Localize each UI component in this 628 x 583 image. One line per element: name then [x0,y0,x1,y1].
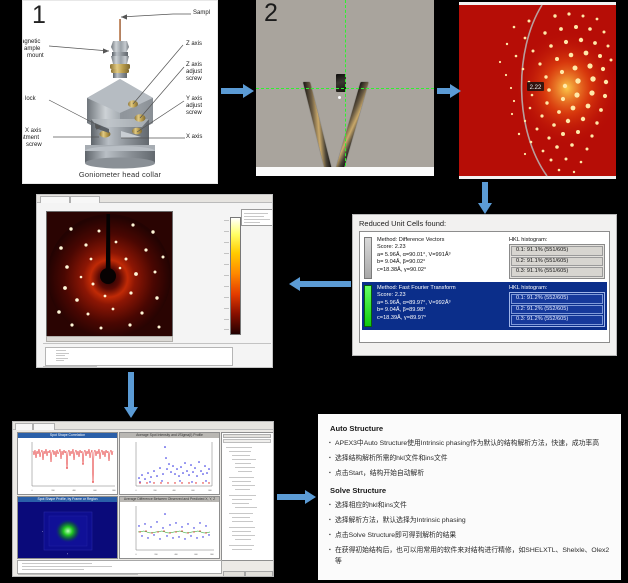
tree-dropdown[interactable] [223,434,271,438]
red-scatter-plot: 0 200 400 600 800 Image [18,438,117,494]
svg-text:2.22: 2.22 [530,85,542,91]
viewer-legend [241,209,273,226]
step-number-2: 2 [264,1,278,26]
panel-reduced-unit-cells: Reduced Unit Cells found: Method: Differ… [352,214,617,356]
hkl-histogram-box: 0.1: 91.1% (551/605) 0.2: 91.1% (551/605… [509,244,605,279]
tree-filter-dropdown[interactable] [223,439,271,443]
bullet-solve-3: 点击Solve Structure即可得到解析的结果 [330,530,612,541]
diffraction-image[interactable] [46,211,173,337]
hkl-histogram-label: HKL histogram: [509,237,605,243]
viewer-tabstrip[interactable] [37,195,272,203]
cell-axis-b: b= 9.04Å, β=89.98° [377,307,509,314]
label-x-adjust-screw-l3: screw [26,142,42,149]
panel-diffraction-frame: 2.22 2.22 [459,2,616,179]
cell-details: Method: Fast Fourier Transform Score: 2.… [377,285,509,327]
score-swatch [364,237,372,279]
pane-profile: xy [18,502,117,558]
residual-scatter-plot: 0 200 400 600 800 Image [120,502,219,558]
label-magnetic-mount-l3: mount [27,53,44,60]
crosshair-horizontal [256,88,434,89]
viewer-info-panel [45,347,233,366]
pane-spot-shape-correlation[interactable]: Spot Shape Correlation 0 200 400 [17,432,118,495]
pane-residuals[interactable]: Average Difference Between Observed and … [119,496,220,559]
bullet-auto-2: 选择结构解析所需的hkl文件和ins文件 [330,453,612,464]
label-axis-lock: is lock [22,96,36,103]
tab-apex3[interactable] [15,423,33,430]
cell-method: Method: Difference Vectors [377,237,509,244]
hkl-histogram-group: HKL histogram: 0.1: 91.1% (551/605) 0.2:… [509,237,605,279]
label-z-axis: Z axis [186,41,202,48]
blue-red-scatter-plot: 0 200 400 600 800 Image [120,438,219,494]
footer-button-summary[interactable] [223,571,245,577]
workflow-figure: 1 [0,0,628,583]
panel-goniometer-head: 1 [22,0,218,184]
intensity-colorbar [230,217,241,335]
unit-cell-list[interactable]: Method: Difference Vectors Score: 2.23 a… [359,231,610,343]
cell-score: Score: 2.23 [377,292,509,299]
integration-status-text [18,574,138,575]
panel-integration-statistics: Spot Shape Correlation 0 200 400 [12,421,274,577]
hkl-histogram-label: HKL histogram: [509,285,605,291]
pane-plot: 0 200 400 600 800 Image [120,502,219,558]
heading-auto-structure: Auto Structure [330,424,612,433]
tab-raw-exposures[interactable] [40,196,70,203]
hkl-bar: 0.1: 91.1% (551/605) [511,246,603,256]
hkl-histogram-box: 0.1: 91.2% (552/605) 0.2: 91.2% (552/605… [509,292,605,327]
hkl-bar: 0.1: 91.2% (552/605) [511,294,603,304]
hkl-bar: 0.3: 91.2% (552/605) [511,315,603,325]
dialog-title: Reduced Unit Cells found: [353,215,616,231]
heading-solve-structure: Solve Structure [330,486,612,495]
crystal-highlight [338,96,341,99]
svg-text:y: y [67,553,68,555]
arrow-cells-to-viewer [289,277,351,291]
pane-average-intensity[interactable]: Average Spot Intensity and I/Sigma(I) Pr… [119,432,220,495]
label-z-adjust-screw-l3: screw [186,76,202,83]
cell-axis-c: c=18.39Å, γ=89.97° [377,315,509,322]
cell-axis-b: b= 9.04Å, β=90.02° [377,259,509,266]
spot-profile-3d: xy [18,502,117,558]
unit-cell-row[interactable]: Method: Difference Vectors Score: 2.23 a… [362,234,607,282]
integration-parameters-tree[interactable] [221,432,274,561]
viewer-status-label: Image loaded: frame_001.sfrm — scan 1 of… [37,203,38,204]
label-sample: Sampl [193,10,210,17]
bullet-auto-1: APEX3中Auto Structure使用Intrinsic phasing作… [330,438,612,449]
cell-axis-c: c=18.38Å, γ=90.02° [377,267,509,274]
tab-frame-overview[interactable] [70,196,100,203]
needle-right [335,82,368,170]
cell-details: Method: Difference Vectors Score: 2.23 a… [377,237,509,279]
hkl-bar: 0.3: 91.1% (551/605) [511,267,603,277]
cell-method: Method: Fast Fourier Transform [377,285,509,292]
goniometer-head-illustration [23,1,218,184]
integration-log [17,560,222,574]
hkl-bar: 0.2: 91.1% (551/605) [511,257,603,267]
svg-text:x: x [42,531,43,533]
footer-button-integration-progress[interactable] [245,571,273,577]
stats-tabstrip[interactable] [13,422,273,430]
integration-status-label: Now running: integration run 1 of 1 -- f… [13,430,14,431]
bullet-solve-1: 选择相应的hkl和ins文件 [330,500,612,511]
bullet-auto-3: 点击Start，结构开始自动解析 [330,468,612,479]
pane-spot-shape-profile[interactable]: Spot Shape Profile, by Frame or Region [17,496,118,559]
arrow-3-to-cells [478,182,492,214]
tab-integrate[interactable] [33,423,55,430]
label-y-adjust-screw-l3: screw [186,110,202,117]
label-x-axis: X axis [186,134,202,141]
cell-score: Score: 2.23 [377,244,509,251]
hkl-bar: 0.2: 91.2% (552/605) [511,305,603,315]
arrow-stats-to-instructions [277,490,316,504]
colorbar-ticks [221,217,229,333]
arrow-1-to-2 [221,84,254,98]
score-swatch [364,285,372,327]
panel-instructions: Auto Structure APEX3中Auto Structure使用Int… [318,414,621,580]
arrow-viewer-to-stats [124,372,138,418]
diffraction-spots: 2.22 [459,2,616,179]
viewer-status-text [43,366,97,367]
goniometer-caption: Goniometer head collar [23,170,217,179]
bullet-solve-4: 在获得初始结构后，也可以用常用的软件来对结构进行精修，如SHELXTL、Shel… [330,545,612,567]
panel-frame-viewer: Image loaded: frame_001.sfrm — scan 1 of… [36,194,273,368]
hkl-histogram-group: HKL histogram: 0.1: 91.2% (552/605) 0.2:… [509,285,605,327]
needle-left [303,82,332,170]
arrow-2-to-3 [437,84,461,98]
axis-ruler [43,343,271,344]
pane-plot: 0 200 400 600 800 Image [120,438,219,494]
tree-title-label: Integration Parameters [13,430,14,431]
image-hscrollbar[interactable] [46,336,173,342]
panel-crystal-centering: 2 [256,0,434,176]
camera-bottom-bar [256,167,434,176]
unit-cell-row-selected[interactable]: Method: Fast Fourier Transform Score: 2.… [362,282,607,330]
pane-plot: 0 200 400 600 800 Image [18,438,117,494]
bullet-solve-2: 选择解析方法，默认选择为Intrinsic phasing [330,515,612,526]
